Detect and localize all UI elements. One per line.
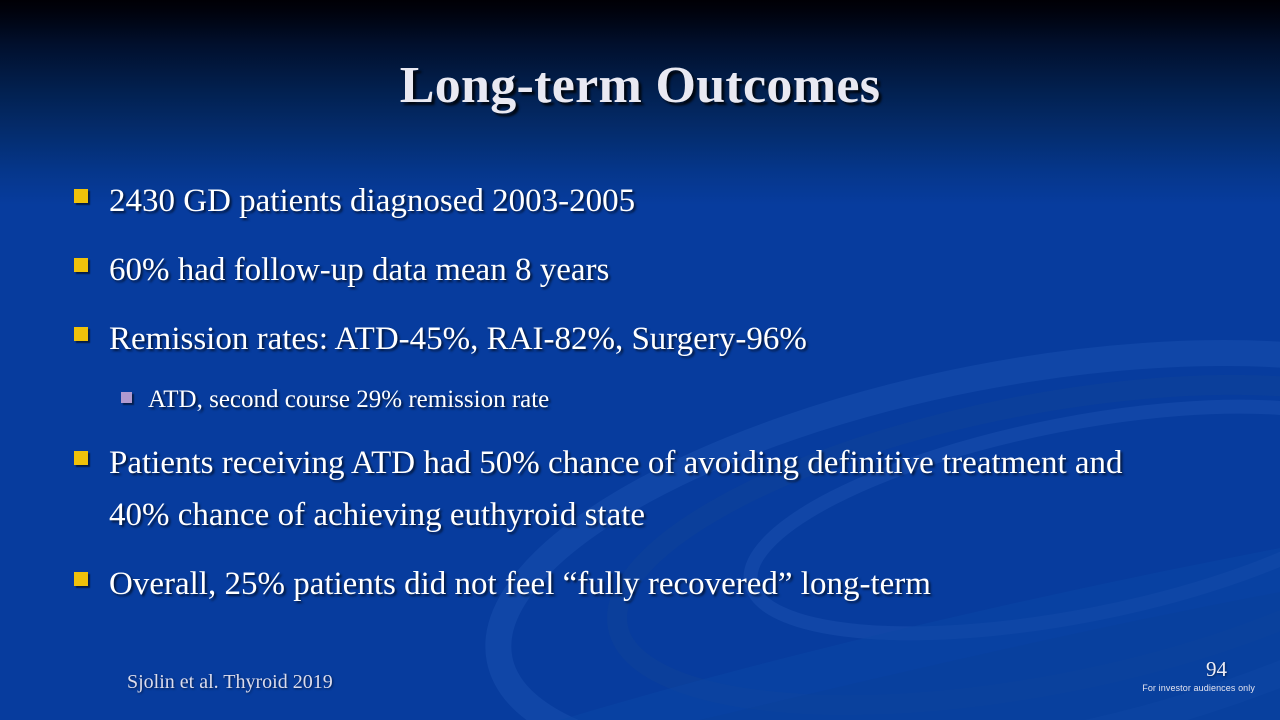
bullet-text: Remission rates: ATD-45%, RAI-82%, Surge… [109,314,807,366]
bullet-text: 60% had follow-up data mean 8 years [109,245,609,297]
bullet-text: Patients receiving ATD had 50% chance of… [109,438,1184,542]
bullet-text: Overall, 25% patients did not feel “full… [109,559,931,611]
presentation-slide: Long-term Outcomes 2430 GD patients diag… [0,0,1280,720]
list-item: Overall, 25% patients did not feel “full… [74,559,1204,611]
list-item: Remission rates: ATD-45%, RAI-82%, Surge… [74,314,1204,366]
bullet-square-icon [74,327,88,341]
bullet-square-icon [74,572,88,586]
slide-title: Long-term Outcomes [0,56,1280,115]
bullet-square-icon [74,189,88,203]
citation-text: Sjolin et al. Thyroid 2019 [127,671,333,694]
list-item: 2430 GD patients diagnosed 2003-2005 [74,176,1204,228]
sub-list-item: ATD, second course 29% remission rate [121,382,1204,417]
bullet-square-icon [74,451,88,465]
disclaimer-text: For investor audiences only [1142,683,1255,693]
page-number: 94 [1206,657,1227,682]
sub-bullet-text: ATD, second course 29% remission rate [148,382,549,417]
bullet-list: 2430 GD patients diagnosed 2003-2005 60%… [74,176,1204,628]
list-item: 60% had follow-up data mean 8 years [74,245,1204,297]
sub-bullet-square-icon [121,392,132,403]
bullet-text: 2430 GD patients diagnosed 2003-2005 [109,176,635,228]
list-item: Patients receiving ATD had 50% chance of… [74,438,1204,542]
bullet-square-icon [74,258,88,272]
